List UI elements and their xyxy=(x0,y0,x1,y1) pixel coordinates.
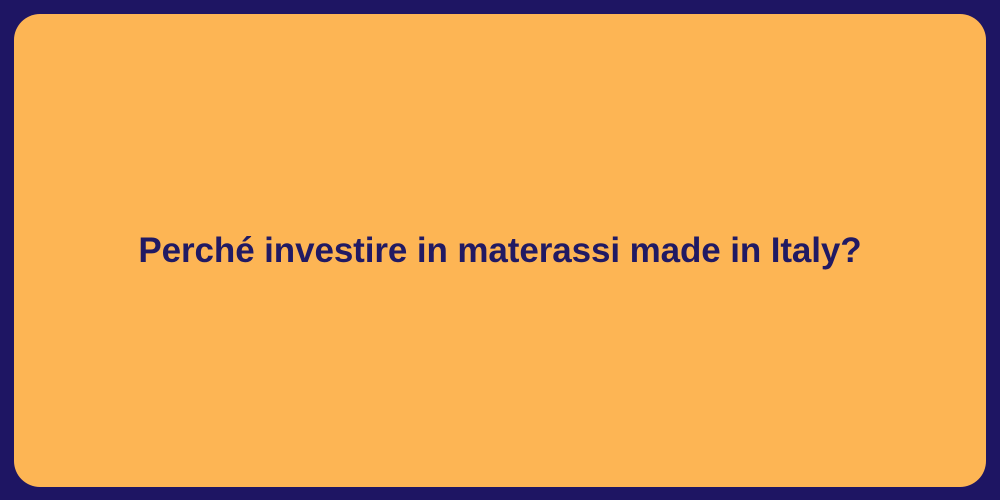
content-card: Perché investire in materassi made in It… xyxy=(14,14,986,487)
page-title: Perché investire in materassi made in It… xyxy=(114,230,885,272)
page-frame: Perché investire in materassi made in It… xyxy=(0,0,1000,500)
